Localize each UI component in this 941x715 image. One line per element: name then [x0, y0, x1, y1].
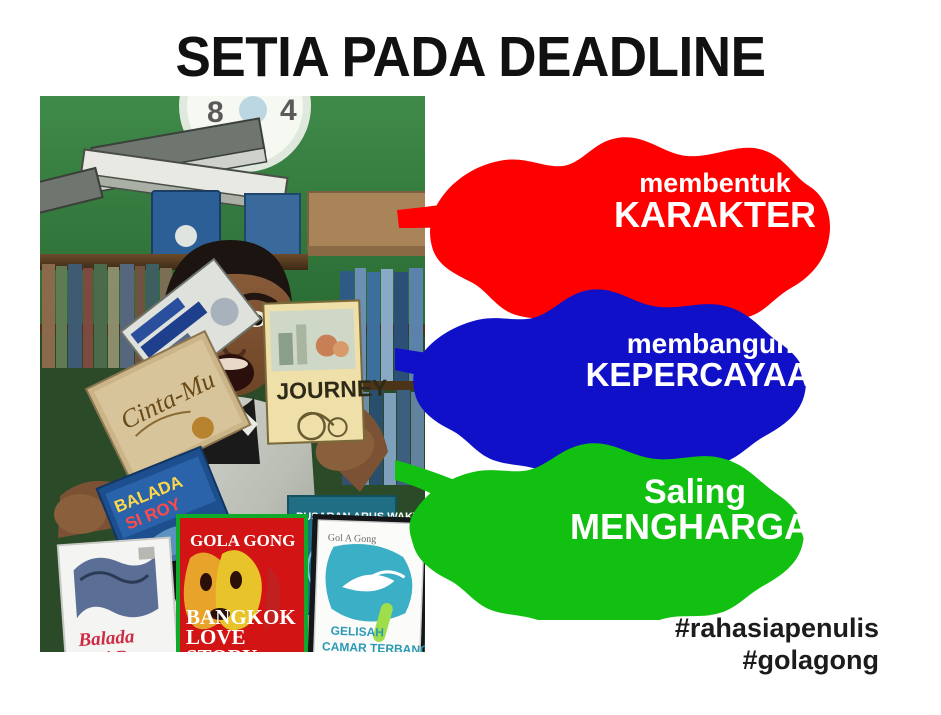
blob-green [410, 443, 804, 620]
svg-text:Gol A Gong: Gol A Gong [328, 532, 377, 545]
svg-text:GELISAH: GELISAH [330, 624, 384, 640]
photo-illustration: 8 4 5 [40, 96, 425, 666]
photo-man-with-books: 8 4 5 [40, 96, 425, 666]
page-title: SETIA PADA DEADLINE [33, 24, 908, 90]
svg-text:GOLA GONG: GOLA GONG [190, 531, 295, 550]
svg-text:4: 4 [280, 96, 297, 127]
blob-group: membentuk KARAKTER membangun KEPERCAYAAN… [395, 120, 941, 620]
hashtag-block: #rahasiapenulis #golagong [675, 613, 879, 677]
poster-canvas: SETIA PADA DEADLINE [0, 0, 941, 715]
hashtag-rahasiapenulis: #rahasiapenulis [675, 613, 879, 645]
blob-shapes-svg [395, 120, 941, 620]
svg-text:JOURNEY: JOURNEY [276, 374, 388, 404]
hashtag-golagong: #golagong [675, 645, 879, 677]
